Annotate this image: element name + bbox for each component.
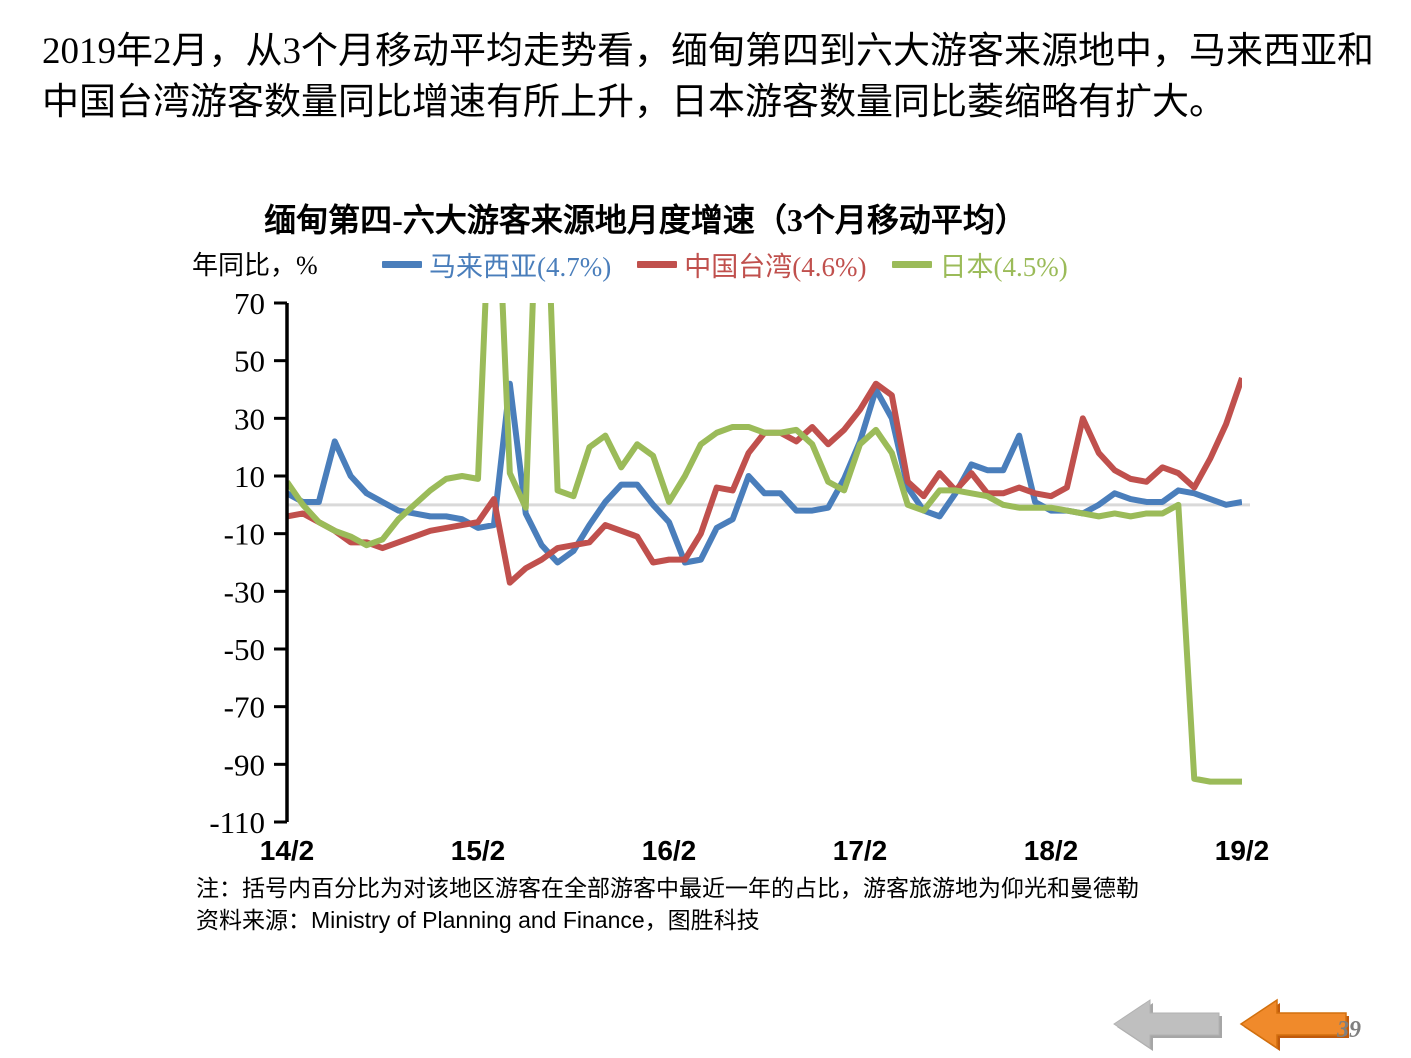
footnote-note: 注：括号内百分比为对该地区游客在全部游客中最近一年的占比，游客旅游地为仰光和曼德… — [196, 872, 1346, 904]
x-tick-label: 19/2 — [1215, 835, 1270, 866]
back-arrow-icon[interactable] — [1110, 995, 1225, 1053]
x-tick-label: 14/2 — [260, 835, 315, 866]
y-tick-label: -90 — [224, 747, 265, 782]
x-tick-label: 16/2 — [642, 835, 697, 866]
y-tick-label: -10 — [224, 517, 265, 552]
plot-area: 70503010-10-30-50-70-90-110 14/215/216/2… — [0, 185, 1411, 945]
y-tick-label: 30 — [234, 401, 265, 436]
chart-container: 缅甸第四-六大游客来源地月度增速（3个月移动平均） 年同比，% 马来西亚(4.7… — [0, 185, 1411, 945]
y-tick-label: -30 — [224, 574, 265, 609]
headline-paragraph: 2019年2月，从3个月移动平均走势看，缅甸第四到六大游客来源地中，马来西亚和中… — [42, 26, 1382, 128]
y-tick-label: 10 — [234, 459, 265, 494]
series-line-taiwan — [287, 378, 1242, 583]
x-tick-label: 15/2 — [451, 835, 506, 866]
y-tick-label: 50 — [234, 344, 265, 379]
page-number: 39 — [1337, 1017, 1361, 1044]
y-tick-label: -50 — [224, 632, 265, 667]
y-tick-label: 70 — [234, 286, 265, 321]
y-tick-label: -70 — [224, 690, 265, 725]
x-tick-label-group: 14/215/216/217/218/219/2 — [260, 835, 1270, 866]
axis-group — [274, 303, 287, 822]
chart-svg: 70503010-10-30-50-70-90-110 14/215/216/2… — [0, 185, 1411, 945]
home-arrow-icon[interactable] — [1237, 995, 1352, 1053]
y-tick-label-group: 70503010-10-30-50-70-90-110 — [209, 286, 265, 840]
y-tick-label: -110 — [209, 805, 265, 840]
series-line-japan — [287, 185, 1242, 782]
footnotes: 注：括号内百分比为对该地区游客在全部游客中最近一年的占比，游客旅游地为仰光和曼德… — [196, 872, 1346, 936]
series-line-malaysia — [287, 384, 1242, 563]
series-group — [287, 185, 1242, 782]
x-tick-label: 18/2 — [1024, 835, 1079, 866]
footnote-source: 资料来源：Ministry of Planning and Finance，图胜… — [196, 904, 1346, 936]
x-tick-label: 17/2 — [833, 835, 888, 866]
